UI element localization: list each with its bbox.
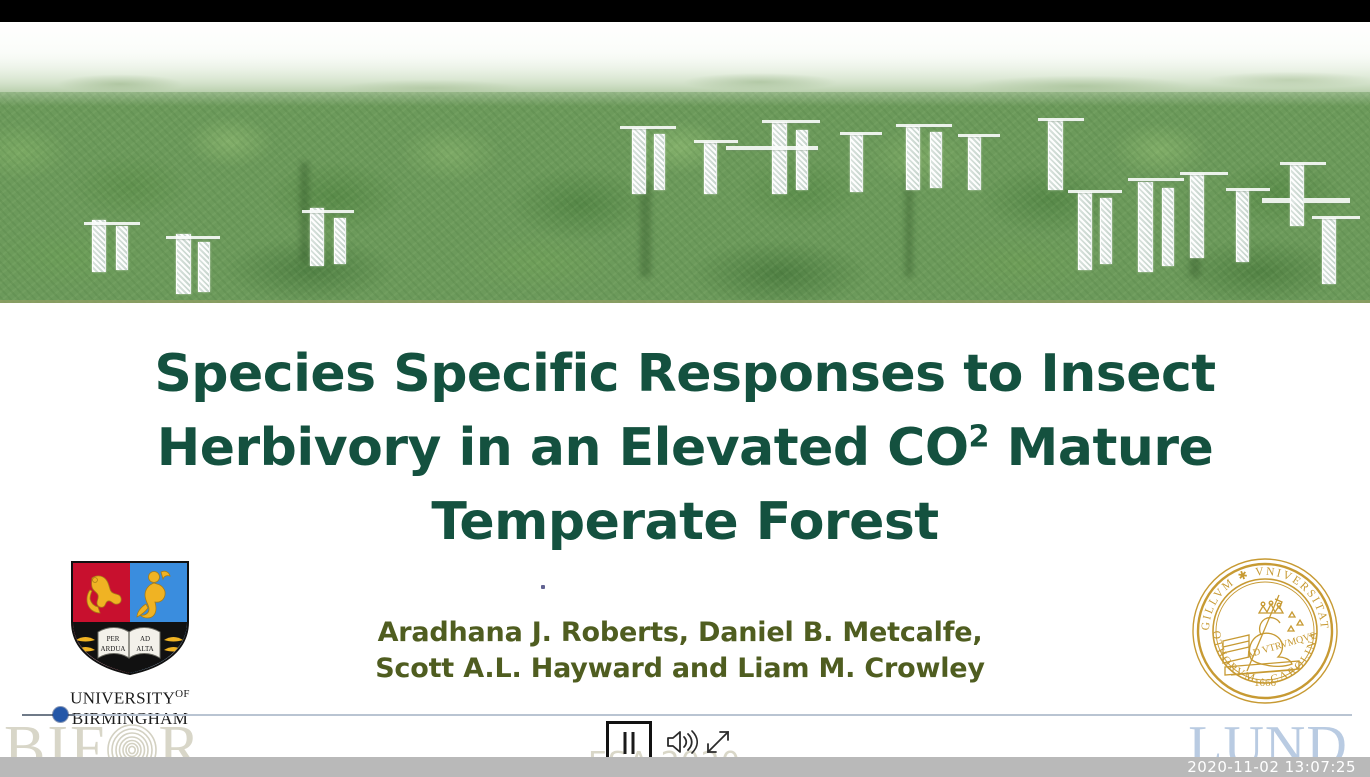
title-line-2-post: Mature — [989, 418, 1213, 478]
slide-dot-artifact — [541, 585, 545, 589]
fullscreen-button[interactable] — [702, 726, 734, 758]
bifor-text-after: R — [158, 714, 201, 757]
page-title: Species Specific Responses to Insect Her… — [110, 337, 1260, 559]
face-tower — [1322, 218, 1336, 284]
svg-text:ARDUA: ARDUA — [101, 645, 126, 653]
face-tower-arm — [1226, 188, 1270, 191]
birmingham-of: OF — [175, 688, 190, 700]
face-tower-arm — [840, 132, 882, 135]
face-tower — [704, 142, 717, 194]
taskbar-timestamp: 2020-11-02 13:07:25 — [1187, 757, 1356, 777]
face-tower-arm — [1312, 216, 1360, 219]
face-tower-arm — [1180, 172, 1228, 175]
face-tower-arm — [166, 236, 220, 239]
face-tower — [1162, 188, 1174, 266]
presentation-slide: Species Specific Responses to Insect Her… — [0, 22, 1370, 757]
pause-icon — [624, 732, 635, 754]
face-tower — [1290, 164, 1304, 226]
face-tower-arm — [84, 222, 140, 225]
face-tower-arm — [1068, 190, 1122, 193]
face-tower — [116, 226, 128, 270]
university-of-birmingham-logo: PER ARDUA AD ALTA UNIVERSITYOF BIRMINGHA… — [40, 560, 220, 720]
author-list: Aradhana J. Roberts, Daniel B. Metcalfe,… — [250, 615, 1110, 687]
face-tower — [906, 126, 920, 190]
face-tower-arm — [1280, 162, 1326, 165]
face-tower — [92, 220, 106, 272]
author-line-1: Aradhana J. Roberts, Daniel B. Metcalfe, — [250, 615, 1110, 651]
lund-wordmark: LUND — [1168, 717, 1368, 757]
face-tower — [310, 208, 324, 266]
face-tower — [850, 134, 863, 192]
forest-canopy-photo — [0, 22, 1370, 303]
canopy-shadow — [640, 182, 651, 277]
birmingham-crest-icon: PER ARDUA AD ALTA — [68, 560, 192, 676]
face-tower — [176, 234, 191, 294]
face-tower-arm — [1128, 178, 1184, 181]
face-tower — [654, 134, 665, 190]
title-line-2: Herbivory in an Elevated CO2 Mature — [110, 411, 1260, 485]
face-tower-arm — [1038, 118, 1084, 121]
face-tower — [1100, 198, 1112, 264]
distant-field — [0, 58, 1370, 110]
volume-button[interactable] — [664, 727, 698, 757]
title-superscript: 2 — [969, 420, 989, 455]
title-line-1: Species Specific Responses to Insect — [110, 337, 1260, 411]
face-tower — [198, 242, 210, 292]
lund-seal-icon: SIGILLVM ✱ VNIVERSITATIS GOTHORVM · CARO… — [1189, 555, 1341, 707]
face-tower — [1138, 182, 1153, 272]
lund-university-logo: SIGILLVM ✱ VNIVERSITATIS GOTHORVM · CARO… — [1170, 555, 1360, 725]
birmingham-line-1: UNIVERSITY — [70, 689, 175, 708]
face-tower — [968, 136, 981, 190]
face-tower-boom — [1262, 198, 1350, 203]
video-progress-bar[interactable] — [22, 714, 1352, 716]
face-tower — [930, 132, 942, 188]
face-tower — [1078, 192, 1092, 270]
face-tower — [334, 218, 346, 264]
author-line-2: Scott A.L. Hayward and Liam M. Crowley — [250, 651, 1110, 687]
face-tower — [1048, 120, 1063, 190]
face-tower-arm — [694, 140, 738, 143]
bifor-tree-ring-icon — [106, 723, 158, 757]
fullscreen-arrows-icon — [702, 726, 734, 758]
svg-text:1666: 1666 — [1254, 677, 1277, 689]
letterbox-top — [0, 0, 1370, 22]
face-tower-arm — [958, 134, 1000, 137]
face-tower-arm — [896, 124, 952, 127]
title-line-3: Temperate Forest — [110, 485, 1260, 559]
face-tower — [772, 122, 787, 194]
face-tower-boom — [726, 146, 818, 150]
face-tower-arm — [302, 210, 354, 213]
face-tower — [632, 128, 646, 194]
title-line-2-pre: Herbivory in an Elevated CO — [157, 418, 969, 478]
video-player-stage: Species Specific Responses to Insect Her… — [0, 0, 1370, 777]
face-tower-arm — [762, 120, 820, 123]
face-tower — [1190, 174, 1204, 258]
speaker-icon — [664, 727, 698, 757]
svg-text:ALTA: ALTA — [136, 645, 153, 653]
face-tower — [1236, 190, 1249, 262]
svg-text:AD: AD — [140, 635, 150, 643]
svg-text:PER: PER — [107, 635, 120, 643]
desktop-taskbar — [0, 757, 1370, 777]
photo-bottom-edge — [0, 300, 1370, 303]
face-tower-arm — [620, 126, 676, 129]
face-tower — [796, 130, 808, 190]
bifor-logo: BIFR — [4, 715, 234, 757]
